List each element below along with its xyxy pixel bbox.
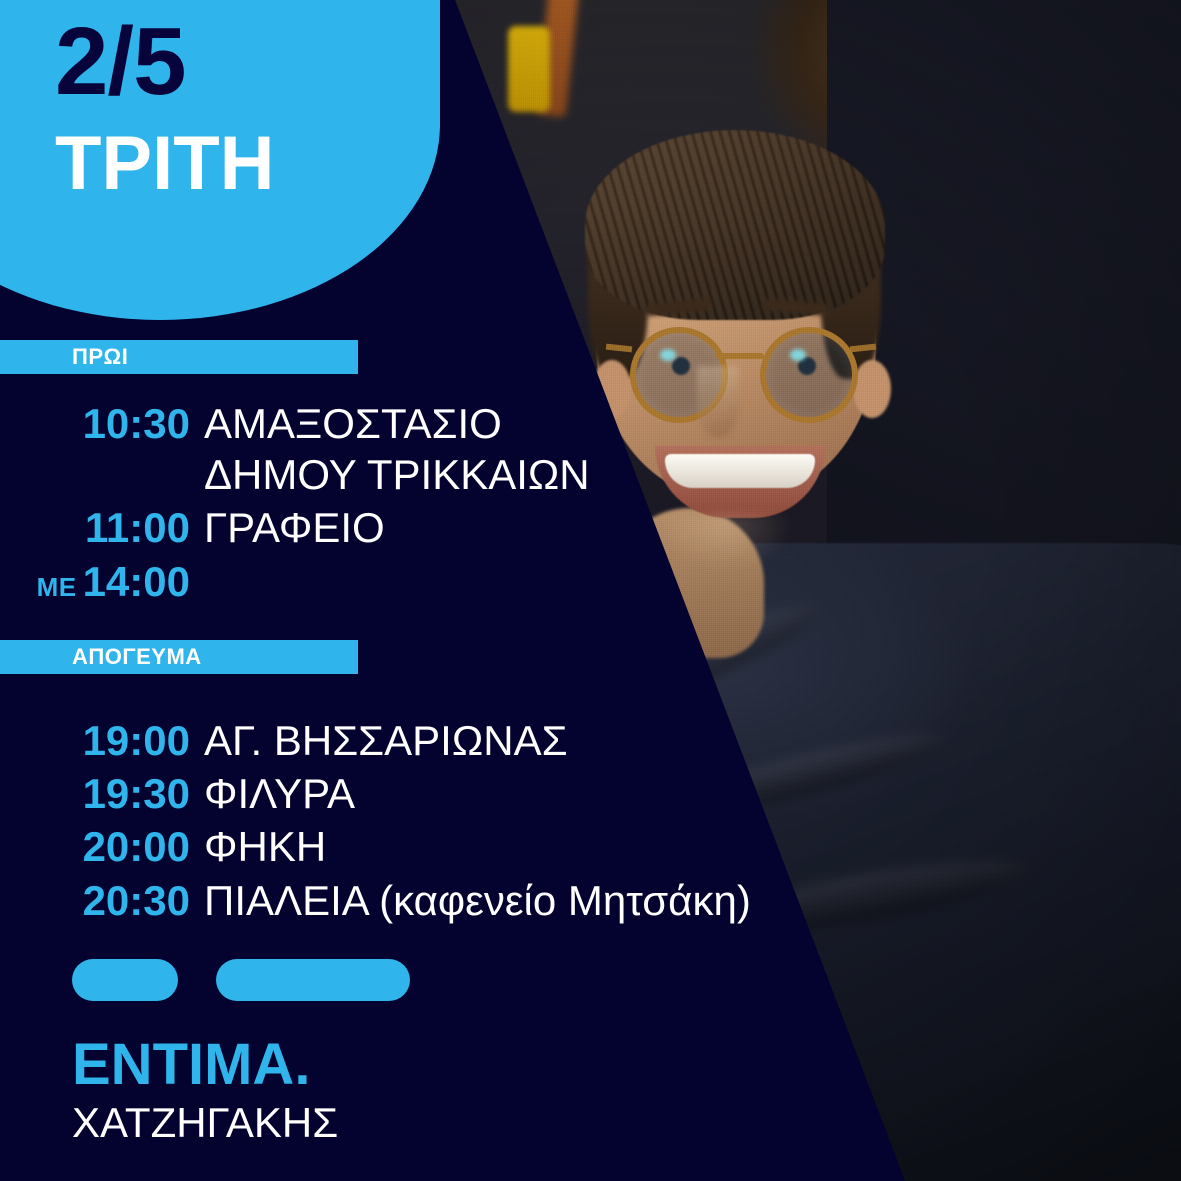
schedule-row: 20:00 ΦΗΚΗ — [0, 821, 780, 872]
schedule-list-afternoon: 19:00 ΑΓ. ΒΗΣΣΑΡΙΩΝΑΣ 19:30 ΦΙΛΥΡΑ 20:00… — [0, 715, 780, 928]
section-header-morning: ΠΡΩΙ — [0, 340, 358, 374]
schedule-time-range-end: ΜΕ14:00 — [0, 556, 190, 607]
schedule-time: 19:30 — [0, 768, 190, 819]
schedule-venue: ΓΡΑΦΕΙΟ — [204, 502, 385, 553]
brand-logo-sub: ΧΑΤΖΗΓΑΚΗΣ — [72, 1100, 338, 1146]
schedule-venue: ΠΙΑΛΕΙΑ (καφενείο Μητσάκη) — [204, 875, 751, 926]
section-header-morning-label: ΠΡΩΙ — [72, 344, 128, 370]
logo-pill-small — [72, 959, 178, 1001]
date-badge-content: 2/5 ΤΡΙΤΗ — [0, 0, 440, 320]
schedule-venue: ΦΙΛΥΡΑ — [204, 768, 355, 819]
schedule-row: 19:30 ΦΙΛΥΡΑ — [0, 768, 780, 819]
schedule-time: 11:00 — [0, 502, 190, 553]
schedule-venue: ΦΗΚΗ — [204, 821, 326, 872]
schedule-row: ΜΕ14:00 — [0, 556, 780, 607]
campaign-schedule-poster: 2/5 ΤΡΙΤΗ ΠΡΩΙ 10:30 ΑΜΑΞΟΣΤΑΣΙΟ ΔΗΜΟΥ Τ… — [0, 0, 1181, 1181]
section-header-afternoon: ΑΠΟΓΕΥΜΑ — [0, 640, 358, 674]
brand-logo-main: ΕΝΤΙΜΑ. — [72, 1036, 338, 1094]
date-number: 2/5 — [55, 14, 185, 110]
schedule-row: 10:30 ΑΜΑΞΟΣΤΑΣΙΟ ΔΗΜΟΥ ΤΡΙΚΚΑΙΩΝ — [0, 398, 780, 500]
schedule-list-morning: 10:30 ΑΜΑΞΟΣΤΑΣΙΟ ΔΗΜΟΥ ΤΡΙΚΚΑΙΩΝ 11:00 … — [0, 398, 780, 609]
section-header-afternoon-label: ΑΠΟΓΕΥΜΑ — [72, 644, 202, 670]
schedule-time: 20:30 — [0, 875, 190, 926]
schedule-time: 20:00 — [0, 821, 190, 872]
schedule-venue: ΑΓ. ΒΗΣΣΑΡΙΩΝΑΣ — [204, 715, 568, 766]
schedule-row: 19:00 ΑΓ. ΒΗΣΣΑΡΙΩΝΑΣ — [0, 715, 780, 766]
schedule-time: 14:00 — [83, 558, 190, 605]
schedule-row: 11:00 ΓΡΑΦΕΙΟ — [0, 502, 780, 553]
logo-pill-large — [216, 959, 410, 1001]
brand-logo: ΕΝΤΙΜΑ. ΧΑΤΖΗΓΑΚΗΣ — [72, 1036, 338, 1146]
date-day-name: ΤΡΙΤΗ — [55, 126, 275, 202]
schedule-time: 10:30 — [0, 398, 190, 449]
schedule-venue: ΑΜΑΞΟΣΤΑΣΙΟ ΔΗΜΟΥ ΤΡΙΚΚΑΙΩΝ — [204, 398, 590, 500]
logo-pill-group — [72, 959, 410, 1001]
schedule-time: 19:00 — [0, 715, 190, 766]
schedule-row: 20:30 ΠΙΑΛΕΙΑ (καφενείο Μητσάκη) — [0, 875, 780, 926]
schedule-time-prefix: ΜΕ — [37, 572, 77, 602]
date-badge: 2/5 ΤΡΙΤΗ — [0, 0, 440, 320]
